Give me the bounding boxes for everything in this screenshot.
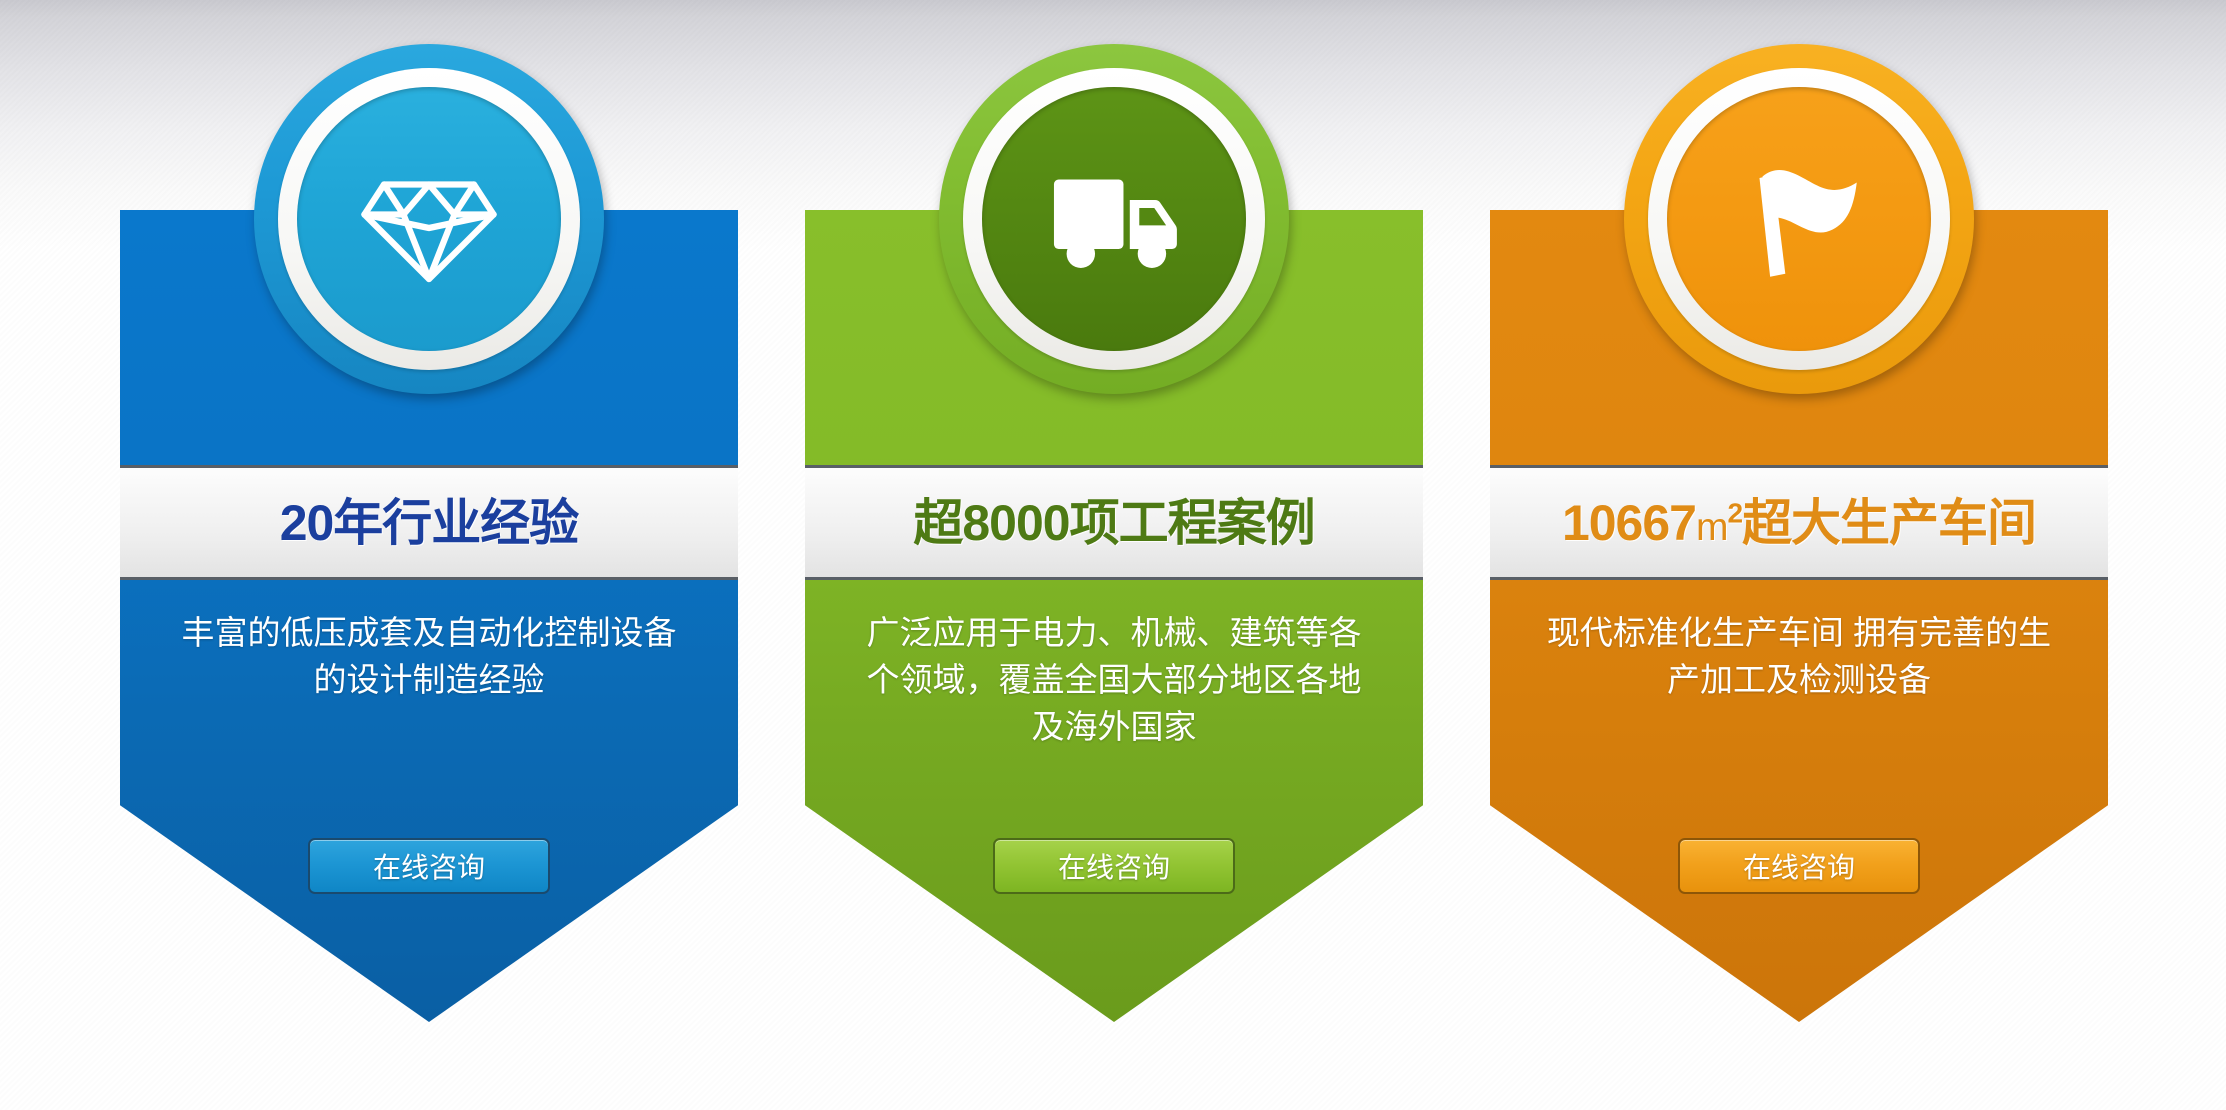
consult-button-label: 在线咨询: [373, 846, 485, 886]
card-description: 现代标准化生产车间 拥有完善的生产加工及检测设备: [1542, 610, 2056, 704]
card-title: 10667m2超大生产车间: [1562, 498, 2036, 548]
feature-card-workshop: 10667m2超大生产车间 现代标准化生产车间 拥有完善的生产加工及检测设备 在…: [1490, 210, 2108, 1022]
card-description: 丰富的低压成套及自动化控制设备的设计制造经验: [172, 610, 686, 704]
card-title-number: 10667: [1562, 495, 1696, 551]
card-title: 20年行业经验: [280, 498, 579, 548]
consult-button-label: 在线咨询: [1058, 846, 1170, 886]
consult-button[interactable]: 在线咨询: [993, 838, 1235, 894]
badge-experience: [254, 44, 604, 394]
card-title-superscript: 2: [1727, 497, 1742, 528]
consult-button[interactable]: 在线咨询: [1678, 838, 1920, 894]
card-description: 广泛应用于电力、机械、建筑等各个领域，覆盖全国大部分地区各地及海外国家: [857, 610, 1371, 751]
promo-banner: 20年行业经验 丰富的低压成套及自动化控制设备的设计制造经验 在线咨询: [0, 0, 2226, 1110]
feature-card-experience: 20年行业经验 丰富的低压成套及自动化控制设备的设计制造经验 在线咨询: [120, 210, 738, 1022]
badge-inner-disc: [982, 87, 1246, 351]
card-title: 超8000项工程案例: [913, 498, 1314, 548]
card-title-band: 10667m2超大生产车间: [1490, 465, 2108, 580]
flag-icon: [1723, 143, 1875, 295]
card-title-unit: m: [1696, 506, 1728, 549]
feature-card-projects: 超8000项工程案例 广泛应用于电力、机械、建筑等各个领域，覆盖全国大部分地区各…: [805, 210, 1423, 1022]
card-title-band: 20年行业经验: [120, 465, 738, 580]
badge-workshop: [1624, 44, 1974, 394]
badge-inner-disc: [297, 87, 561, 351]
consult-button[interactable]: 在线咨询: [308, 838, 550, 894]
diamond-icon: [354, 144, 504, 294]
consult-button-label: 在线咨询: [1743, 846, 1855, 886]
card-title-band: 超8000项工程案例: [805, 465, 1423, 580]
delivery-truck-icon: [1035, 140, 1193, 298]
badge-projects: [939, 44, 1289, 394]
badge-inner-disc: [1667, 87, 1931, 351]
card-title-suffix: 超大生产车间: [1742, 495, 2036, 551]
